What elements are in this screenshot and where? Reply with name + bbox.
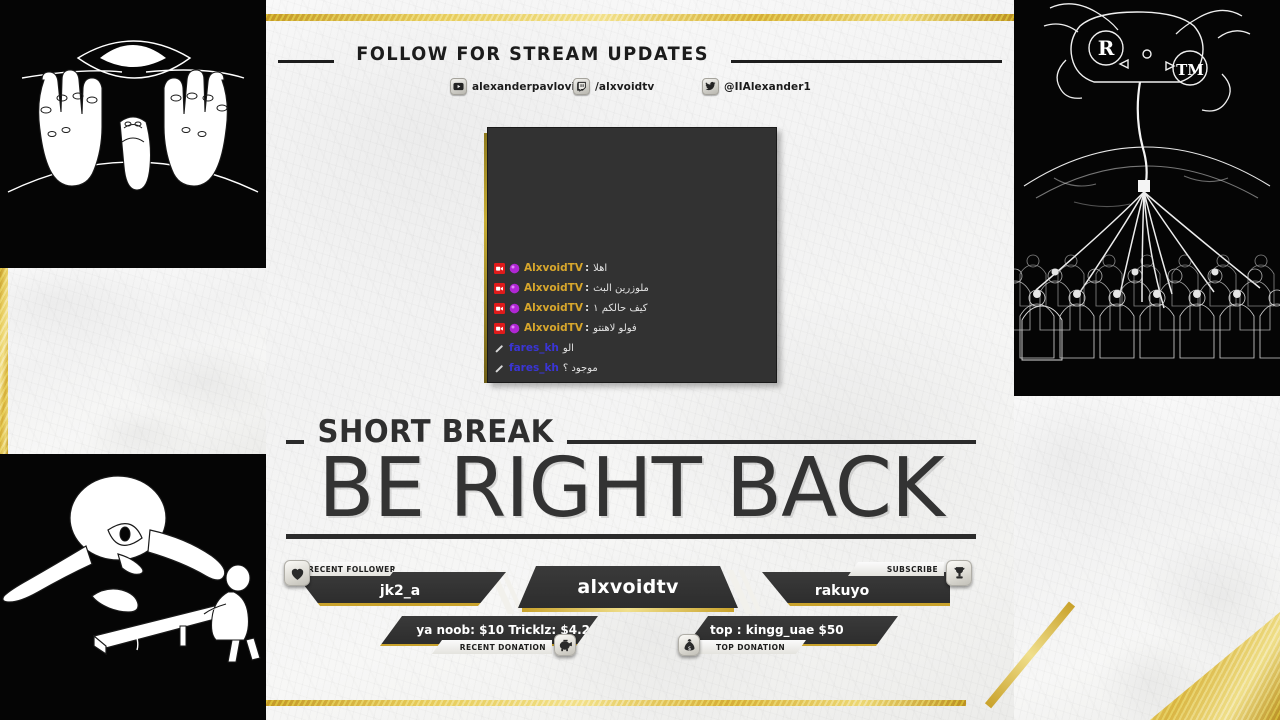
twitch-icon bbox=[573, 78, 590, 95]
chat-username: AlxvoidTV bbox=[524, 322, 583, 334]
gold-trim-left bbox=[0, 268, 8, 454]
chat-text: فولو لاهنتو bbox=[593, 323, 637, 334]
artwork-bottom-left bbox=[0, 454, 266, 720]
subscriber-icon bbox=[509, 303, 520, 314]
chat-message: fares_kh موجود ؟ bbox=[494, 358, 770, 378]
trophy-icon bbox=[946, 560, 972, 586]
artwork-top-left bbox=[0, 0, 266, 268]
chat-username: fares_kh bbox=[509, 342, 559, 354]
chat-message: fares_kh الو bbox=[494, 338, 770, 358]
chat-message-list: AlxvoidTV : اهلا AlxvoidTV : ملوزرين الب… bbox=[488, 258, 776, 378]
chat-box[interactable]: AlxvoidTV : اهلا AlxvoidTV : ملوزرين الب… bbox=[487, 127, 777, 383]
social-handle-youtube: alexanderpavlovich bbox=[472, 81, 589, 93]
chat-colon: : bbox=[585, 302, 589, 314]
title-rule-left bbox=[278, 60, 334, 63]
gold-trim-top bbox=[266, 14, 1014, 21]
heart-icon bbox=[284, 560, 310, 586]
page-title: FOLLOW FOR STREAM UPDATES bbox=[348, 43, 717, 65]
chat-username: fares_kh bbox=[509, 362, 559, 374]
broadcaster-icon bbox=[494, 303, 505, 314]
chat-message: AlxvoidTV : فولو لاهنتو bbox=[494, 318, 770, 338]
channel-name-underline bbox=[522, 608, 734, 612]
chat-widget: AlxvoidTV : اهلا AlxvoidTV : ملوزرين الب… bbox=[487, 127, 777, 383]
channel-name: alxvoidtv bbox=[518, 566, 738, 608]
twitter-icon bbox=[702, 78, 719, 95]
social-links-row: alexanderpavlovich /alxvoidtv @IIAlexand… bbox=[266, 78, 1014, 108]
title-rule-right bbox=[731, 60, 1002, 63]
chat-message: AlxvoidTV : ملوزرين البث bbox=[494, 278, 770, 298]
social-link-twitch[interactable]: /alxvoidtv bbox=[573, 78, 654, 95]
bottom-info-bars: jk2_a RECENT FOLLOWER alxvoidtv rakuyo S… bbox=[282, 560, 984, 660]
left-middle-concrete-background bbox=[0, 268, 266, 454]
svg-text:TM: TM bbox=[1176, 61, 1204, 79]
chat-text: الو bbox=[563, 343, 574, 354]
header-block: FOLLOW FOR STREAM UPDATES alexanderpavlo… bbox=[266, 38, 1014, 122]
gold-trim-bottom bbox=[266, 700, 966, 706]
subscriber-value: rakuyo bbox=[734, 572, 950, 606]
artwork-right: R TM bbox=[1014, 0, 1280, 396]
stream-overlay-screen: R TM bbox=[0, 0, 1280, 720]
chat-text: اهلا bbox=[593, 263, 607, 274]
subscribe-label: SUBSCRIBE bbox=[848, 562, 944, 576]
chat-text: كيف حالكم ١ bbox=[593, 303, 647, 314]
recent-follower-value: jk2_a bbox=[294, 572, 506, 606]
youtube-icon bbox=[450, 78, 467, 95]
social-handle-twitch: /alxvoidtv bbox=[595, 81, 654, 93]
subscriber-icon bbox=[509, 263, 520, 274]
svg-text:$: $ bbox=[687, 645, 691, 651]
chat-username: AlxvoidTV bbox=[524, 262, 583, 274]
chat-username: AlxvoidTV bbox=[524, 302, 583, 314]
chat-username: AlxvoidTV bbox=[524, 282, 583, 294]
broadcaster-icon bbox=[494, 263, 505, 274]
chat-colon: : bbox=[585, 262, 589, 274]
brb-headline: BE RIGHT BACK bbox=[286, 450, 976, 528]
money-bag-icon: $ bbox=[678, 634, 700, 656]
svg-text:R: R bbox=[1098, 36, 1115, 60]
chat-text: موجود ؟ bbox=[563, 363, 598, 374]
broadcaster-icon bbox=[494, 283, 505, 294]
chat-message: AlxvoidTV : كيف حالكم ١ bbox=[494, 298, 770, 318]
social-handle-twitter: @IIAlexander1 bbox=[724, 81, 811, 93]
brb-headline-block: SHORT BREAK BE RIGHT BACK bbox=[286, 404, 976, 556]
chat-colon: : bbox=[585, 322, 589, 334]
follow-title-row: FOLLOW FOR STREAM UPDATES bbox=[278, 38, 1002, 70]
moderator-icon bbox=[494, 363, 505, 374]
chat-message: AlxvoidTV : اهلا bbox=[494, 258, 770, 278]
moderator-icon bbox=[494, 343, 505, 354]
subscriber-icon bbox=[509, 323, 520, 334]
piggy-bank-icon bbox=[554, 634, 576, 656]
social-link-youtube[interactable]: alexanderpavlovich bbox=[450, 78, 589, 95]
social-link-twitter[interactable]: @IIAlexander1 bbox=[702, 78, 811, 95]
broadcaster-icon bbox=[494, 323, 505, 334]
top-donation-label: TOP DONATION bbox=[694, 640, 806, 654]
recent-donation-label: RECENT DONATION bbox=[432, 640, 552, 654]
subscriber-icon bbox=[509, 283, 520, 294]
recent-follower-label: RECENT FOLLOWER bbox=[302, 562, 400, 576]
brb-rule-left bbox=[286, 440, 304, 444]
chat-colon: : bbox=[585, 282, 589, 294]
chat-text: ملوزرين البث bbox=[593, 283, 649, 294]
